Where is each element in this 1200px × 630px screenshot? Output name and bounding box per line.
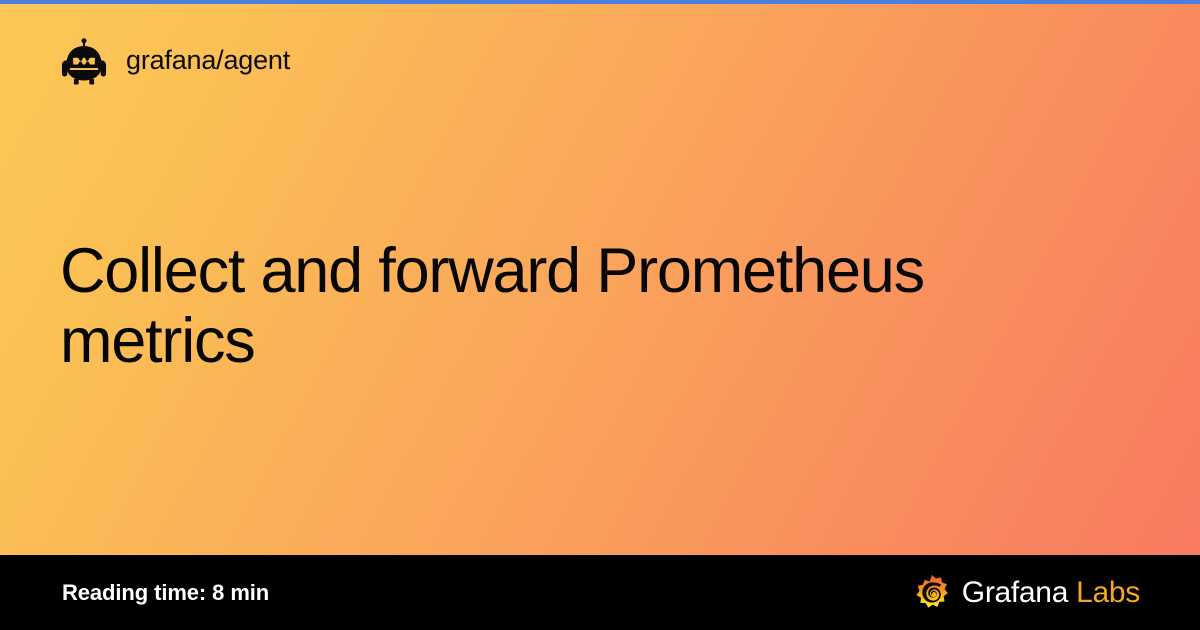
hero-section: grafana/agent Collect and forward Promet…: [0, 0, 1200, 555]
grafana-labs-wordmark: Grafana Labs: [962, 578, 1140, 608]
repo-name: grafana/agent: [126, 47, 290, 74]
reading-time-label: Reading time: 8 min: [62, 582, 269, 604]
repo-header: grafana/agent: [60, 0, 1140, 120]
brand-name-grafana: Grafana: [962, 576, 1068, 609]
footer-bar: Reading time: 8 min Grafana Labs: [0, 555, 1200, 630]
top-accent-bar: [0, 0, 1200, 4]
hero-body: Collect and forward Prometheus metrics: [60, 120, 1140, 555]
og-card: grafana/agent Collect and forward Promet…: [0, 0, 1200, 630]
page-title: Collect and forward Prometheus metrics: [60, 236, 1070, 376]
grafana-labs-brand: Grafana Labs: [913, 574, 1140, 612]
brand-name-labs: Labs: [1076, 576, 1140, 609]
robot-icon: [60, 37, 108, 85]
grafana-logo-icon: [913, 574, 951, 612]
